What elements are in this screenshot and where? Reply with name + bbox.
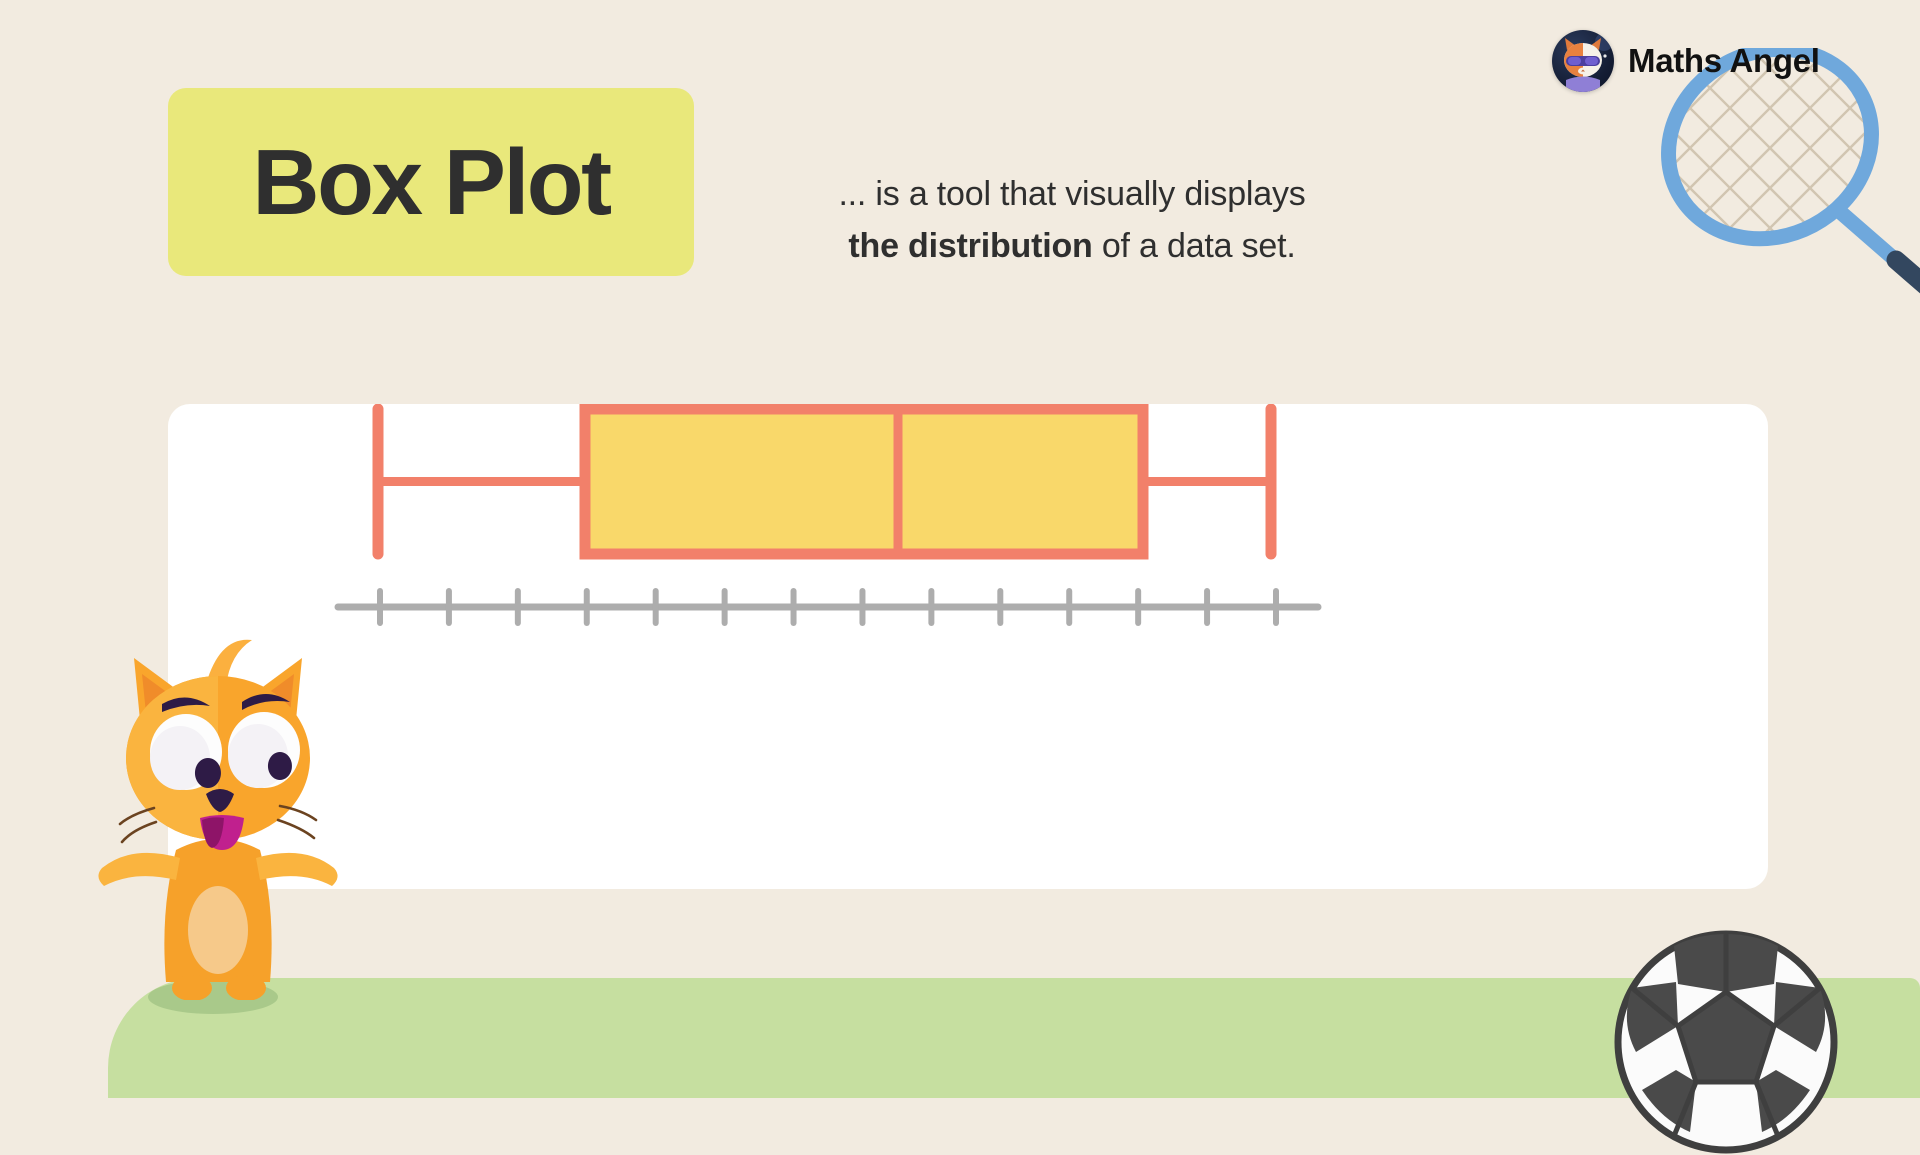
orange-cat-mascot-icon <box>88 600 348 1000</box>
iqr-box <box>585 409 1143 554</box>
brand-name: Maths Angel <box>1628 42 1820 80</box>
slide-canvas: Maths Angel Box Plot ... is a tool that … <box>0 0 1920 1080</box>
subtitle-line-1: ... is a tool that visually displays <box>838 175 1305 213</box>
cat-avatar-icon <box>1552 30 1614 92</box>
box-plot-figure <box>168 404 1768 889</box>
title-badge: Box Plot <box>168 88 694 276</box>
subtitle: ... is a tool that visually displays the… <box>742 168 1402 272</box>
chart-card <box>168 404 1768 889</box>
subtitle-emphasis: the distribution <box>848 227 1092 265</box>
brand-logo[interactable]: Maths Angel <box>1552 30 1820 92</box>
football-icon <box>1614 930 1839 1155</box>
subtitle-tail: of a data set. <box>1093 227 1296 265</box>
page-title: Box Plot <box>252 136 609 229</box>
